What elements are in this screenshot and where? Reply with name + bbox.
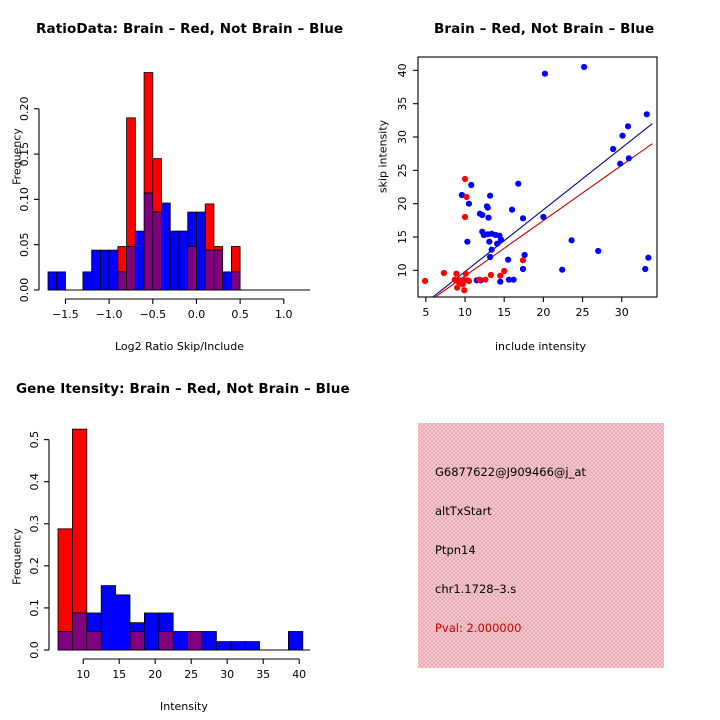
histogram-bar-overlap (130, 631, 144, 650)
scatter-point (511, 277, 517, 283)
histogram-bar (83, 272, 92, 290)
x-axis-tick-label: 35 (256, 668, 270, 681)
x-axis-tick-label: 20 (148, 668, 162, 681)
histogram-bar (288, 631, 302, 650)
histogram-bar (135, 231, 144, 290)
scatter-point (488, 272, 494, 278)
scatter-point (626, 155, 632, 161)
scatter-point (463, 271, 469, 277)
histogram-bar-overlap (58, 631, 72, 650)
y-axis-tick-label: 20 (396, 197, 409, 211)
scatter-point (497, 279, 503, 285)
panel-gene-histogram: Gene Itensity: Brain – Red, Not Brain – … (0, 360, 360, 720)
histogram-bar-overlap (188, 631, 202, 650)
scatter-point (542, 71, 548, 77)
histogram-bar-overlap (231, 272, 240, 290)
y-axis-tick-label: 0.3 (28, 515, 41, 533)
histogram-bar (159, 613, 173, 632)
y-axis-tick-label: 0.5 (28, 431, 41, 449)
scatter-plot: 5101520253010152025303540 (360, 0, 720, 360)
histogram-bar (196, 212, 205, 290)
scatter-point (617, 161, 623, 167)
ratio-histogram-ylabel: Frequency (11, 122, 24, 192)
histogram-bar (58, 529, 72, 632)
histogram-bar (144, 613, 158, 650)
scatter-point (462, 214, 468, 220)
scatter-point (501, 268, 507, 274)
y-axis-tick-label: 0.2 (28, 557, 41, 575)
x-axis-tick-label: 30 (220, 668, 234, 681)
histogram-bar (72, 429, 86, 613)
x-axis-tick-label: −1.5 (52, 308, 79, 321)
histogram-bar (109, 250, 118, 290)
scatter-point (505, 257, 511, 263)
histogram-bar-overlap (153, 212, 162, 290)
histogram-bar (144, 73, 153, 194)
scatter-point (642, 266, 648, 272)
scatter-point (453, 271, 459, 277)
scatter-point (520, 266, 526, 272)
histogram-bar-overlap (87, 631, 101, 650)
gene-histogram-plot: 101520253035400.00.10.20.30.40.5 (0, 360, 360, 720)
x-axis-tick-label: 15 (497, 306, 511, 319)
histogram-bar (216, 642, 230, 650)
histogram-bar-overlap (118, 272, 127, 290)
figure-canvas: RatioData: Brain – Red, Not Brain – Blue… (0, 0, 720, 720)
histogram-bar-overlap (127, 247, 136, 290)
scatter-point (498, 237, 504, 243)
histogram-bar (205, 204, 214, 250)
scatter-point (464, 239, 470, 245)
info-probe-id: G6877622@J909466@j_at (435, 465, 586, 479)
scatter-point (487, 193, 493, 199)
scatter-point (466, 278, 472, 284)
scatter-point (463, 194, 469, 200)
scatter-points (422, 64, 652, 294)
histogram-bar (101, 586, 115, 650)
y-axis-tick-label: 40 (396, 63, 409, 77)
y-axis-tick-label: 30 (396, 130, 409, 144)
histogram-bar (118, 247, 127, 272)
histogram-bar (87, 613, 101, 632)
histogram-bars (48, 73, 240, 290)
scatter-point (521, 252, 527, 258)
histogram-bar-overlap (205, 250, 214, 290)
scatter-point (509, 207, 515, 213)
histogram-bar (127, 118, 136, 247)
scatter-point (610, 146, 616, 152)
x-axis-tick-label: −1.0 (96, 308, 123, 321)
scatter-point (619, 133, 625, 139)
ratio-histogram-title: RatioData: Brain – Red, Not Brain – Blue (36, 21, 343, 37)
gene-histogram-xlabel: Intensity (160, 700, 208, 713)
y-axis-tick-label: 10 (396, 263, 409, 277)
scatter-point (462, 176, 468, 182)
scatter-point (645, 255, 651, 261)
y-axis-tick-label: 0.05 (18, 232, 31, 257)
histogram-bar-overlap (188, 247, 197, 290)
x-axis-tick-label: 30 (615, 306, 629, 319)
scatter-ylabel: skip intensity (377, 119, 390, 195)
histogram-bar (202, 631, 216, 650)
scatter-point (466, 201, 472, 207)
x-axis-tick-label: 5 (422, 306, 429, 319)
scatter-point (441, 270, 447, 276)
panel-scatter: Brain – Red, Not Brain – Blue skip inten… (360, 0, 720, 360)
x-axis-tick-label: 10 (458, 306, 472, 319)
x-axis-tick-label: 10 (76, 668, 90, 681)
histogram-bar (214, 247, 223, 251)
histogram-bar (179, 231, 188, 290)
scatter-point (461, 287, 467, 293)
histogram-bar-overlap (72, 613, 86, 650)
x-axis-tick-label: 0.5 (231, 308, 249, 321)
scatter-point (644, 111, 650, 117)
scatter-point (468, 182, 474, 188)
panel-ratio-histogram: RatioData: Brain – Red, Not Brain – Blue… (0, 0, 360, 360)
histogram-bar (245, 642, 259, 650)
plot-frame (418, 57, 657, 297)
histogram-bar (100, 250, 109, 290)
x-axis-tick-label: 25 (576, 306, 590, 319)
histogram-bar (162, 203, 171, 290)
y-axis-tick-label: 0.4 (28, 473, 41, 491)
histogram-bar (116, 595, 130, 650)
y-axis-tick-label: 0.20 (18, 97, 31, 122)
x-axis-tick-label: 1.0 (275, 308, 293, 321)
scatter-point (581, 64, 587, 70)
histogram-bar (173, 631, 187, 650)
y-axis-tick-label: 25 (396, 163, 409, 177)
x-axis-tick-label: 20 (536, 306, 550, 319)
y-axis-tick-label: 0.1 (28, 599, 41, 617)
histogram-bar (92, 250, 101, 290)
x-axis-tick-label: 0.0 (188, 308, 206, 321)
scatter-point (520, 215, 526, 221)
histogram-bar-overlap (159, 631, 173, 650)
scatter-point (489, 247, 495, 253)
ratio-histogram-plot: −1.5−1.0−0.50.00.51.00.000.050.100.150.2… (0, 0, 360, 360)
histogram-bar (231, 642, 245, 650)
scatter-xlabel: include intensity (495, 340, 586, 353)
histogram-bar (153, 159, 162, 212)
histogram-bars (58, 429, 303, 650)
scatter-point (559, 267, 565, 273)
x-axis-tick-label: 25 (184, 668, 198, 681)
scatter-point (625, 123, 631, 129)
histogram-bar (223, 272, 232, 290)
histogram-bar (231, 247, 240, 272)
scatter-point (479, 212, 485, 218)
histogram-bar (48, 272, 57, 290)
scatter-point (487, 254, 493, 260)
x-axis-tick-label: 40 (292, 668, 306, 681)
gene-info-panel: G6877622@J909466@j_at altTxStart Ptpn14 … (418, 423, 664, 668)
info-event-type: altTxStart (435, 504, 492, 518)
scatter-point (568, 237, 574, 243)
y-axis-tick-label: 0.00 (18, 278, 31, 303)
y-axis-tick-label: 15 (396, 230, 409, 244)
info-pval: Pval: 2.000000 (435, 621, 521, 635)
ratio-histogram-xlabel: Log2 Ratio Skip/Include (115, 340, 244, 353)
y-axis-tick-label: 35 (396, 97, 409, 111)
scatter-point (520, 257, 526, 263)
gene-histogram-title: Gene Itensity: Brain – Red, Not Brain – … (16, 381, 350, 397)
scatter-point (482, 277, 488, 283)
histogram-bar-overlap (214, 250, 223, 290)
x-axis-tick-label: −0.5 (139, 308, 166, 321)
info-gene-symbol: Ptpn14 (435, 543, 476, 557)
scatter-point (486, 239, 492, 245)
scatter-point (540, 214, 546, 220)
gene-histogram-ylabel: Frequency (11, 522, 24, 592)
y-axis-tick-label: 0.0 (28, 641, 41, 659)
scatter-point (485, 205, 491, 211)
scatter-point (515, 181, 521, 187)
scatter-point (476, 277, 482, 283)
info-location: chr1.1728–3.s (435, 582, 516, 596)
histogram-bar-overlap (144, 193, 153, 290)
scatter-point (485, 215, 491, 221)
scatter-point (422, 278, 428, 284)
histogram-bar (130, 623, 144, 632)
histogram-bar (188, 212, 197, 246)
histogram-bar (57, 272, 66, 290)
x-axis-tick-label: 15 (112, 668, 126, 681)
histogram-bar (170, 231, 179, 290)
scatter-title: Brain – Red, Not Brain – Blue (434, 21, 654, 37)
scatter-point (595, 248, 601, 254)
